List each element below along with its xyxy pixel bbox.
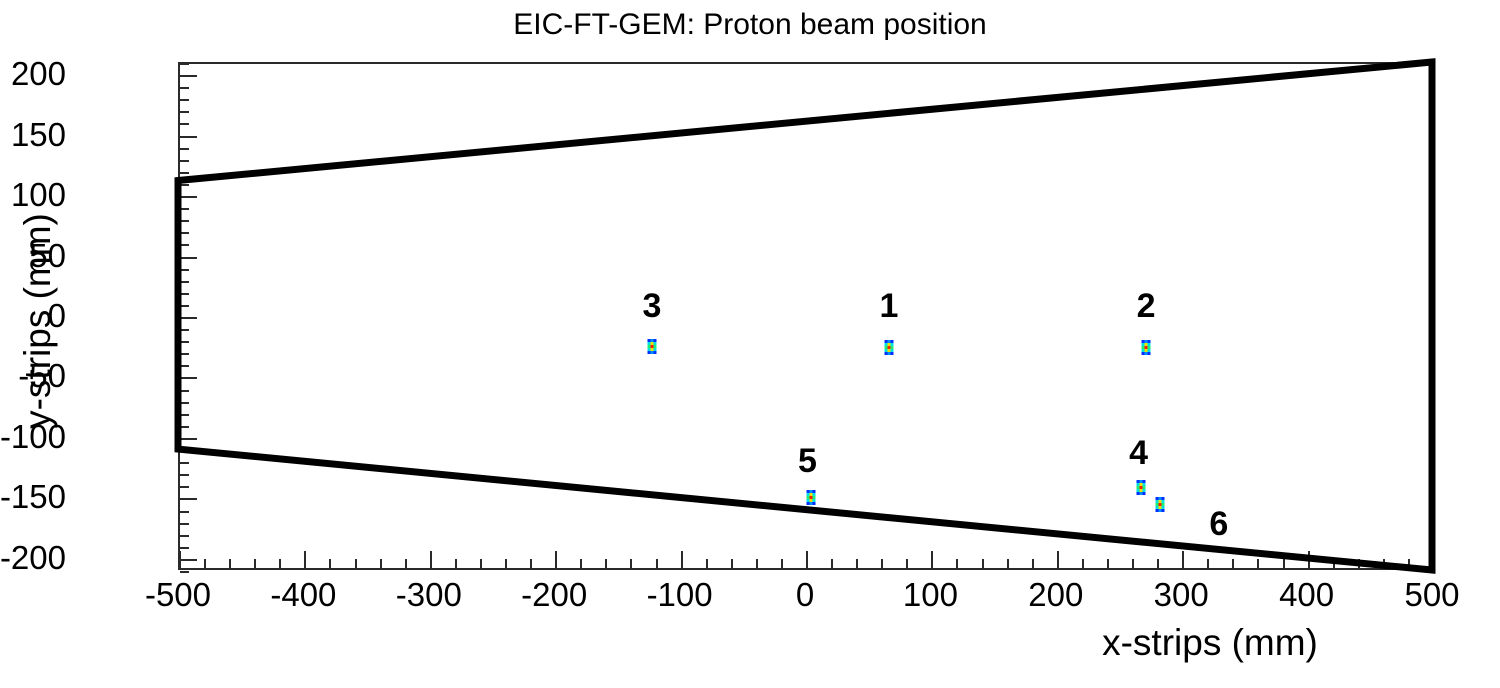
x-axis-tick-label: 500 [1362, 578, 1500, 611]
beam-spot-label-5: 5 [798, 444, 817, 478]
beam-spot-1 [882, 337, 897, 363]
x-axis-tick-label: 100 [860, 578, 1000, 611]
beam-spot-label-1: 1 [880, 289, 899, 323]
beam-spot-4 [1134, 477, 1149, 503]
beam-spot-label-2: 2 [1137, 289, 1156, 323]
x-axis-tick-label: -500 [108, 578, 248, 611]
x-axis-tick-label: -300 [359, 578, 499, 611]
y-axis-tick [180, 571, 189, 573]
beam-spot-label-4: 4 [1129, 436, 1148, 470]
x-axis-tick-label: 0 [735, 578, 875, 611]
x-axis-tick-label: -100 [610, 578, 750, 611]
beam-spot-label-3: 3 [643, 289, 662, 323]
beam-spot-2 [1139, 337, 1154, 363]
x-axis-tick-label: 300 [1111, 578, 1251, 611]
x-axis-tick-label: 400 [1237, 578, 1377, 611]
beam-spot-5 [804, 487, 819, 513]
x-axis-tick-label: 200 [986, 578, 1126, 611]
page-title: EIC-FT-GEM: Proton beam position [0, 8, 1500, 42]
y-axis-title: y-strips (mm) [17, 41, 59, 601]
x-axis-tick-label: -400 [233, 578, 373, 611]
chart-canvas: EIC-FT-GEM: Proton beam position 2001501… [0, 0, 1500, 688]
beam-spot-6 [1152, 494, 1167, 520]
beam-spot-label-6: 6 [1209, 507, 1228, 541]
x-axis-title: x-strips (mm) [960, 622, 1460, 664]
beam-spot-3 [645, 336, 660, 362]
x-axis-tick-label: -200 [484, 578, 624, 611]
